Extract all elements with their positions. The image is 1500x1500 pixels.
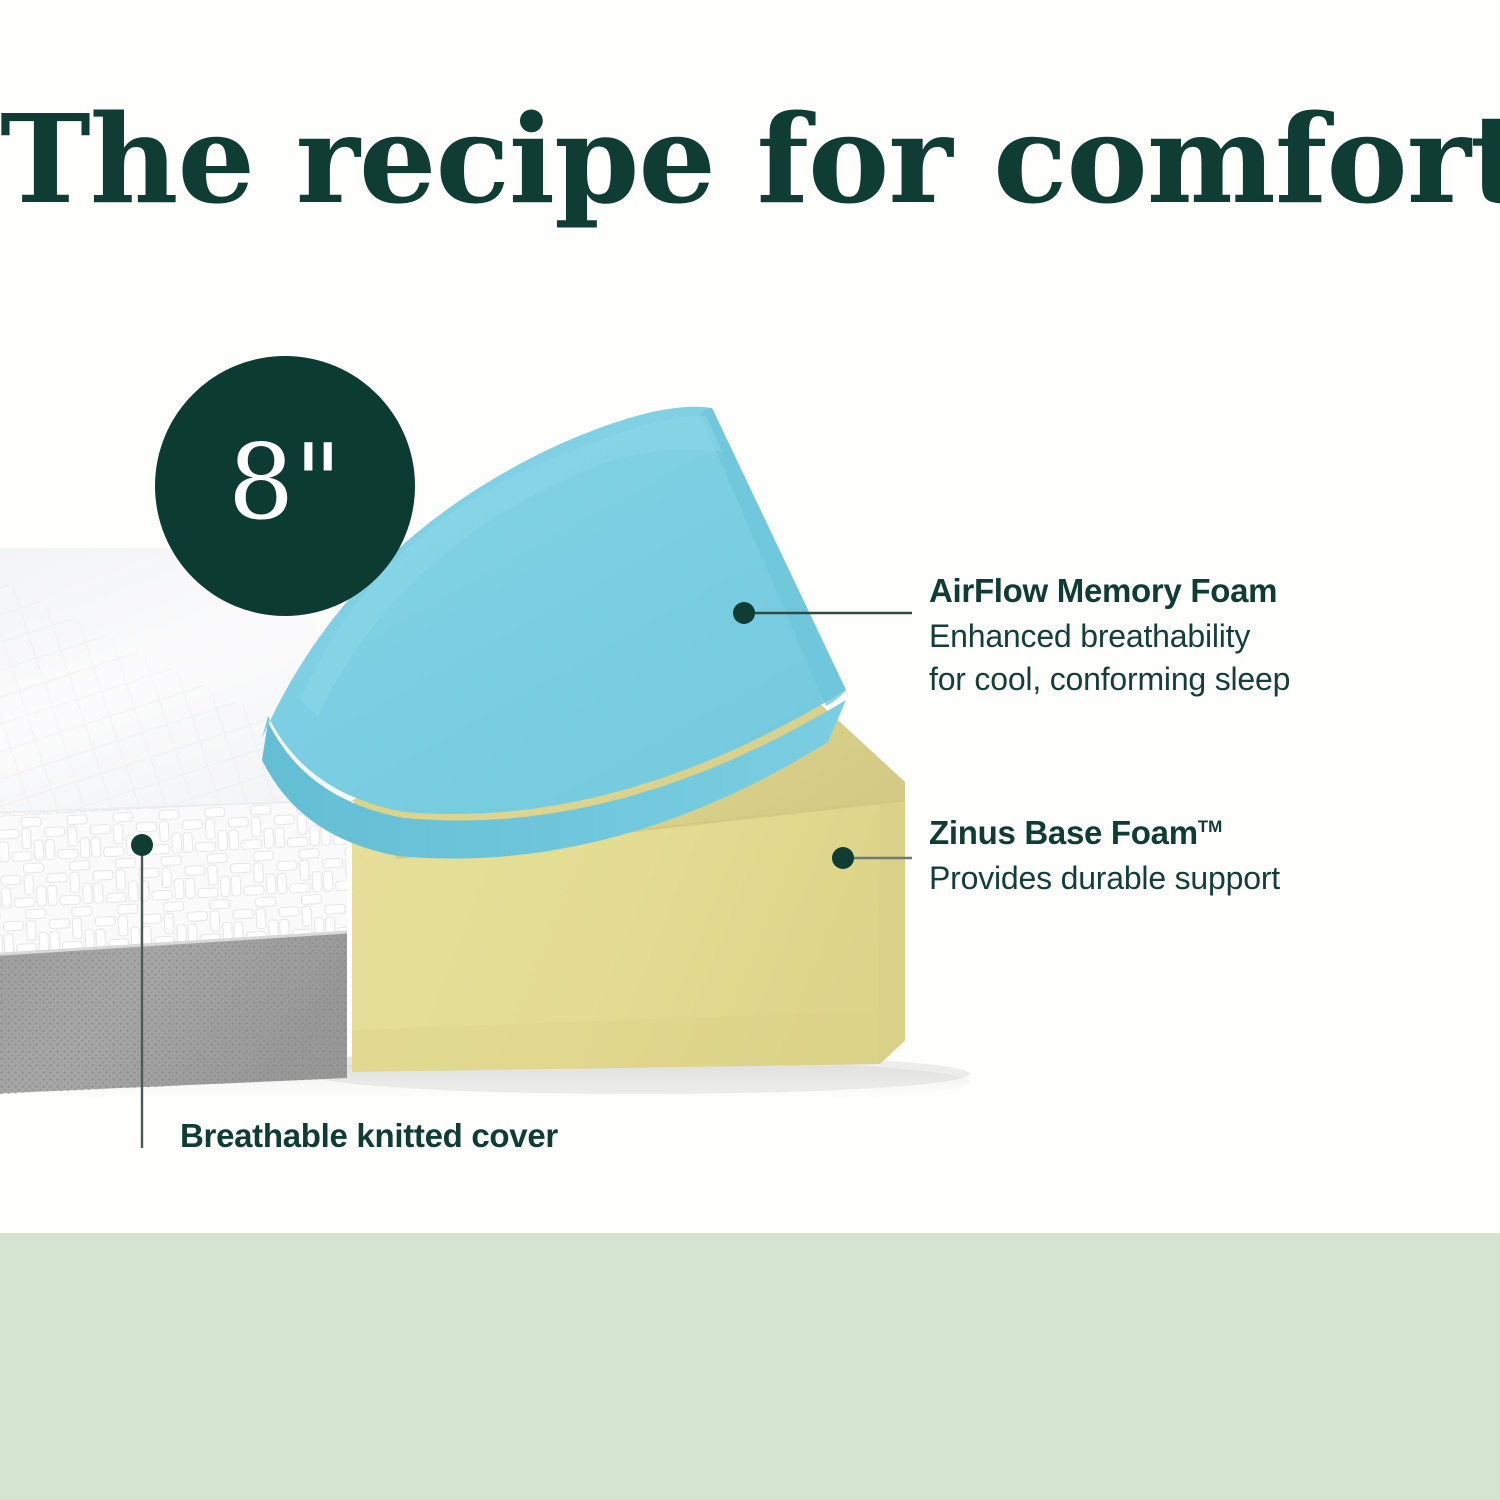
firmness-band: Plush Medium Firm bbox=[0, 1233, 1500, 1500]
callout-base-title: Zinus Base FoamTM bbox=[929, 814, 1280, 853]
callout-airflow-line1: Enhanced breathability bbox=[929, 615, 1290, 659]
callout-airflow-memory-foam: AirFlow Memory Foam Enhanced breathabili… bbox=[929, 572, 1290, 702]
callout-base-title-text: Zinus Base Foam bbox=[929, 814, 1198, 851]
callout-breathable-knitted-cover: Breathable knitted cover bbox=[180, 1117, 558, 1155]
callout-zinus-base-foam: Zinus Base FoamTM Provides durable suppo… bbox=[929, 814, 1280, 900]
callout-airflow-line2: for cool, conforming sleep bbox=[929, 658, 1290, 702]
infographic-canvas: The recipe for comfort bbox=[0, 0, 1500, 1500]
trademark-icon: TM bbox=[1198, 817, 1223, 836]
callout-base-line1: Provides durable support bbox=[929, 857, 1280, 901]
mattress-depth-badge: 8" bbox=[155, 356, 415, 616]
callout-airflow-title: AirFlow Memory Foam bbox=[929, 572, 1290, 611]
mattress-depth-value: 8" bbox=[228, 430, 342, 534]
